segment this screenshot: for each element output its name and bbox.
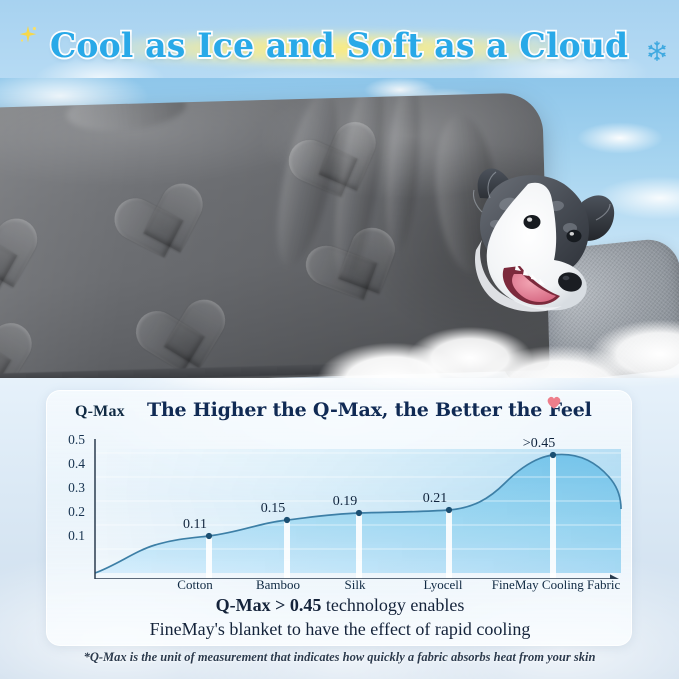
data-label: 0.11 (175, 517, 215, 533)
y-tick-label: 0.2 (55, 504, 85, 520)
y-axis-caption: Q-Max (75, 403, 125, 421)
foreground-clouds (0, 318, 679, 378)
y-tick-label: 0.5 (55, 432, 85, 448)
data-label: 0.15 (253, 501, 293, 517)
y-tick-label: 0.1 (55, 528, 85, 544)
snowflake-icon (646, 40, 668, 62)
chart-title: The Higher the Q-Max, the Better the Fee… (147, 399, 592, 421)
chart-caption-strong: Q-Max > 0.45 (216, 595, 322, 615)
chart-caption-line-1: Q-Max > 0.45 technology enables (47, 593, 633, 617)
x-tick-label-silk: Silk (330, 577, 380, 593)
footnote: *Q-Max is the unit of measurement that i… (0, 650, 679, 665)
y-tick-label: 0.4 (55, 456, 85, 472)
data-label: 0.21 (415, 491, 455, 507)
data-label: 0.19 (325, 494, 365, 510)
headline-banner: Cool as Ice and Soft as a Cloud (0, 18, 679, 74)
chart-caption: Q-Max > 0.45 technology enables FineMay'… (47, 593, 633, 641)
y-tick-label: 0.3 (55, 480, 85, 496)
x-tick-label-bamboo: Bamboo (243, 577, 313, 593)
heart-icon (545, 393, 563, 411)
hero-photo (0, 78, 679, 378)
x-tick-label-finemay: FineMay Cooling Fabric (483, 577, 629, 593)
data-label: >0.45 (509, 436, 569, 452)
chart-caption-rest: technology enables (321, 595, 464, 615)
dog-photo-subject (436, 158, 666, 338)
chart-caption-line-2: FineMay's blanket to have the effect of … (47, 617, 633, 641)
page-title: Cool as Ice and Soft as a Cloud (50, 26, 628, 66)
marketing-infographic: Cool as Ice and Soft as a Cloud (0, 0, 679, 679)
x-tick-label-cotton: Cotton (165, 577, 225, 593)
qmax-chart-panel: Q-Max The Higher the Q-Max, the Better t… (46, 390, 632, 646)
x-tick-label-lyocell: Lyocell (410, 577, 476, 593)
sparkle-icon (17, 24, 39, 46)
